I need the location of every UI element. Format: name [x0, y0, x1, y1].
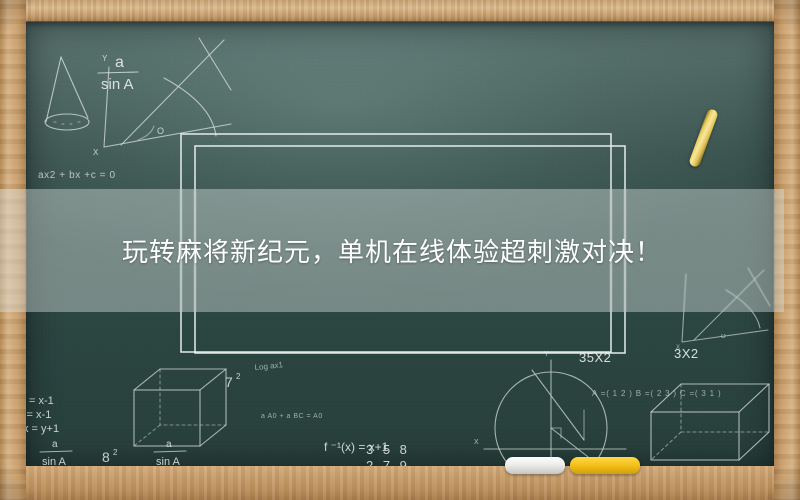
banner-image: a sin A Y X O: [0, 0, 800, 500]
svg-text:35X2: 35X2: [579, 350, 611, 365]
svg-text:2: 2: [236, 372, 241, 381]
svg-text:a: a: [52, 439, 58, 450]
fraction-bar-top: [98, 72, 138, 73]
svg-text:3X2: 3X2: [674, 346, 699, 361]
svg-text:8: 8: [102, 449, 110, 465]
svg-text:ax2 + bx +c = 0: ax2 + bx +c = 0: [38, 170, 116, 181]
svg-text:3 5 8: 3 5 8: [366, 442, 410, 457]
fraction-a-over-sinA-bottomleft: a sin A: [42, 439, 67, 466]
eight-squared: 8 2: [102, 448, 118, 465]
angle-label-right: O: [721, 334, 726, 340]
page-title: 玩转麻将新纪元，单机在线体验超刺激对决！: [0, 189, 784, 312]
axis-x-label-topleft: X: [93, 148, 99, 157]
svg-text:a: a: [115, 54, 124, 71]
cube-left: [134, 369, 226, 446]
angle-label-topleft: O: [157, 126, 164, 136]
addition-column: 3 5 8 2 7 9 6 3 7: [366, 442, 410, 466]
axis-y-label-topleft: Y: [102, 54, 108, 63]
multiply-labels: 35X2 3X2: [579, 346, 699, 365]
ledge-chalk-yellow: [570, 457, 640, 474]
matrix-row: A =( 1 2 ) B =( 2 3 ) C =( 3 1 ): [592, 389, 721, 398]
ledge-chalk-white: [505, 457, 565, 474]
svg-text:sin A: sin A: [101, 76, 134, 93]
circle-axis-diagram: [484, 360, 626, 466]
svg-text:y = x-1: y = x-1: [26, 409, 51, 421]
frame-top-rail: [0, 0, 800, 22]
svg-text:2 7 9: 2 7 9: [366, 458, 410, 466]
svg-text:a: a: [166, 439, 172, 450]
svg-text:x = y+1: x = y+1: [26, 423, 59, 435]
svg-text:A =( 1 2 ) B =( 2 3 ) C =( 3: A =( 1 2 ) B =( 2 3 ) C =( 3 1 ): [592, 389, 721, 398]
svg-text:2: 2: [113, 448, 118, 457]
axis-x-label-circle: X: [474, 439, 479, 446]
svg-text:a A0 + a BC = A0: a A0 + a BC = A0: [261, 413, 323, 420]
seven-squared: 7 2: [225, 372, 241, 390]
axis-y-label-circle: Y: [544, 351, 549, 358]
svg-text:sin A: sin A: [156, 456, 181, 466]
function-lines: f (x) = x-1 y = x-1 x = y+1: [26, 395, 59, 435]
svg-text:sin A: sin A: [42, 456, 67, 466]
quadratic-equation: ax2 + bx +c = 0: [38, 170, 116, 181]
inline-expression: a A0 + a BC = A0: [261, 413, 323, 420]
cone-drawing: [45, 57, 89, 130]
svg-text:f (x) = x-1: f (x) = x-1: [26, 395, 54, 407]
svg-text:7: 7: [225, 374, 233, 390]
fraction-a-over-sinA-bottomcenter: a sin A: [156, 439, 181, 466]
log-ax1-label: Log ax1: [254, 360, 284, 372]
svg-text:Log ax1: Log ax1: [254, 360, 284, 372]
frame-bottom-ledge: [0, 466, 800, 500]
